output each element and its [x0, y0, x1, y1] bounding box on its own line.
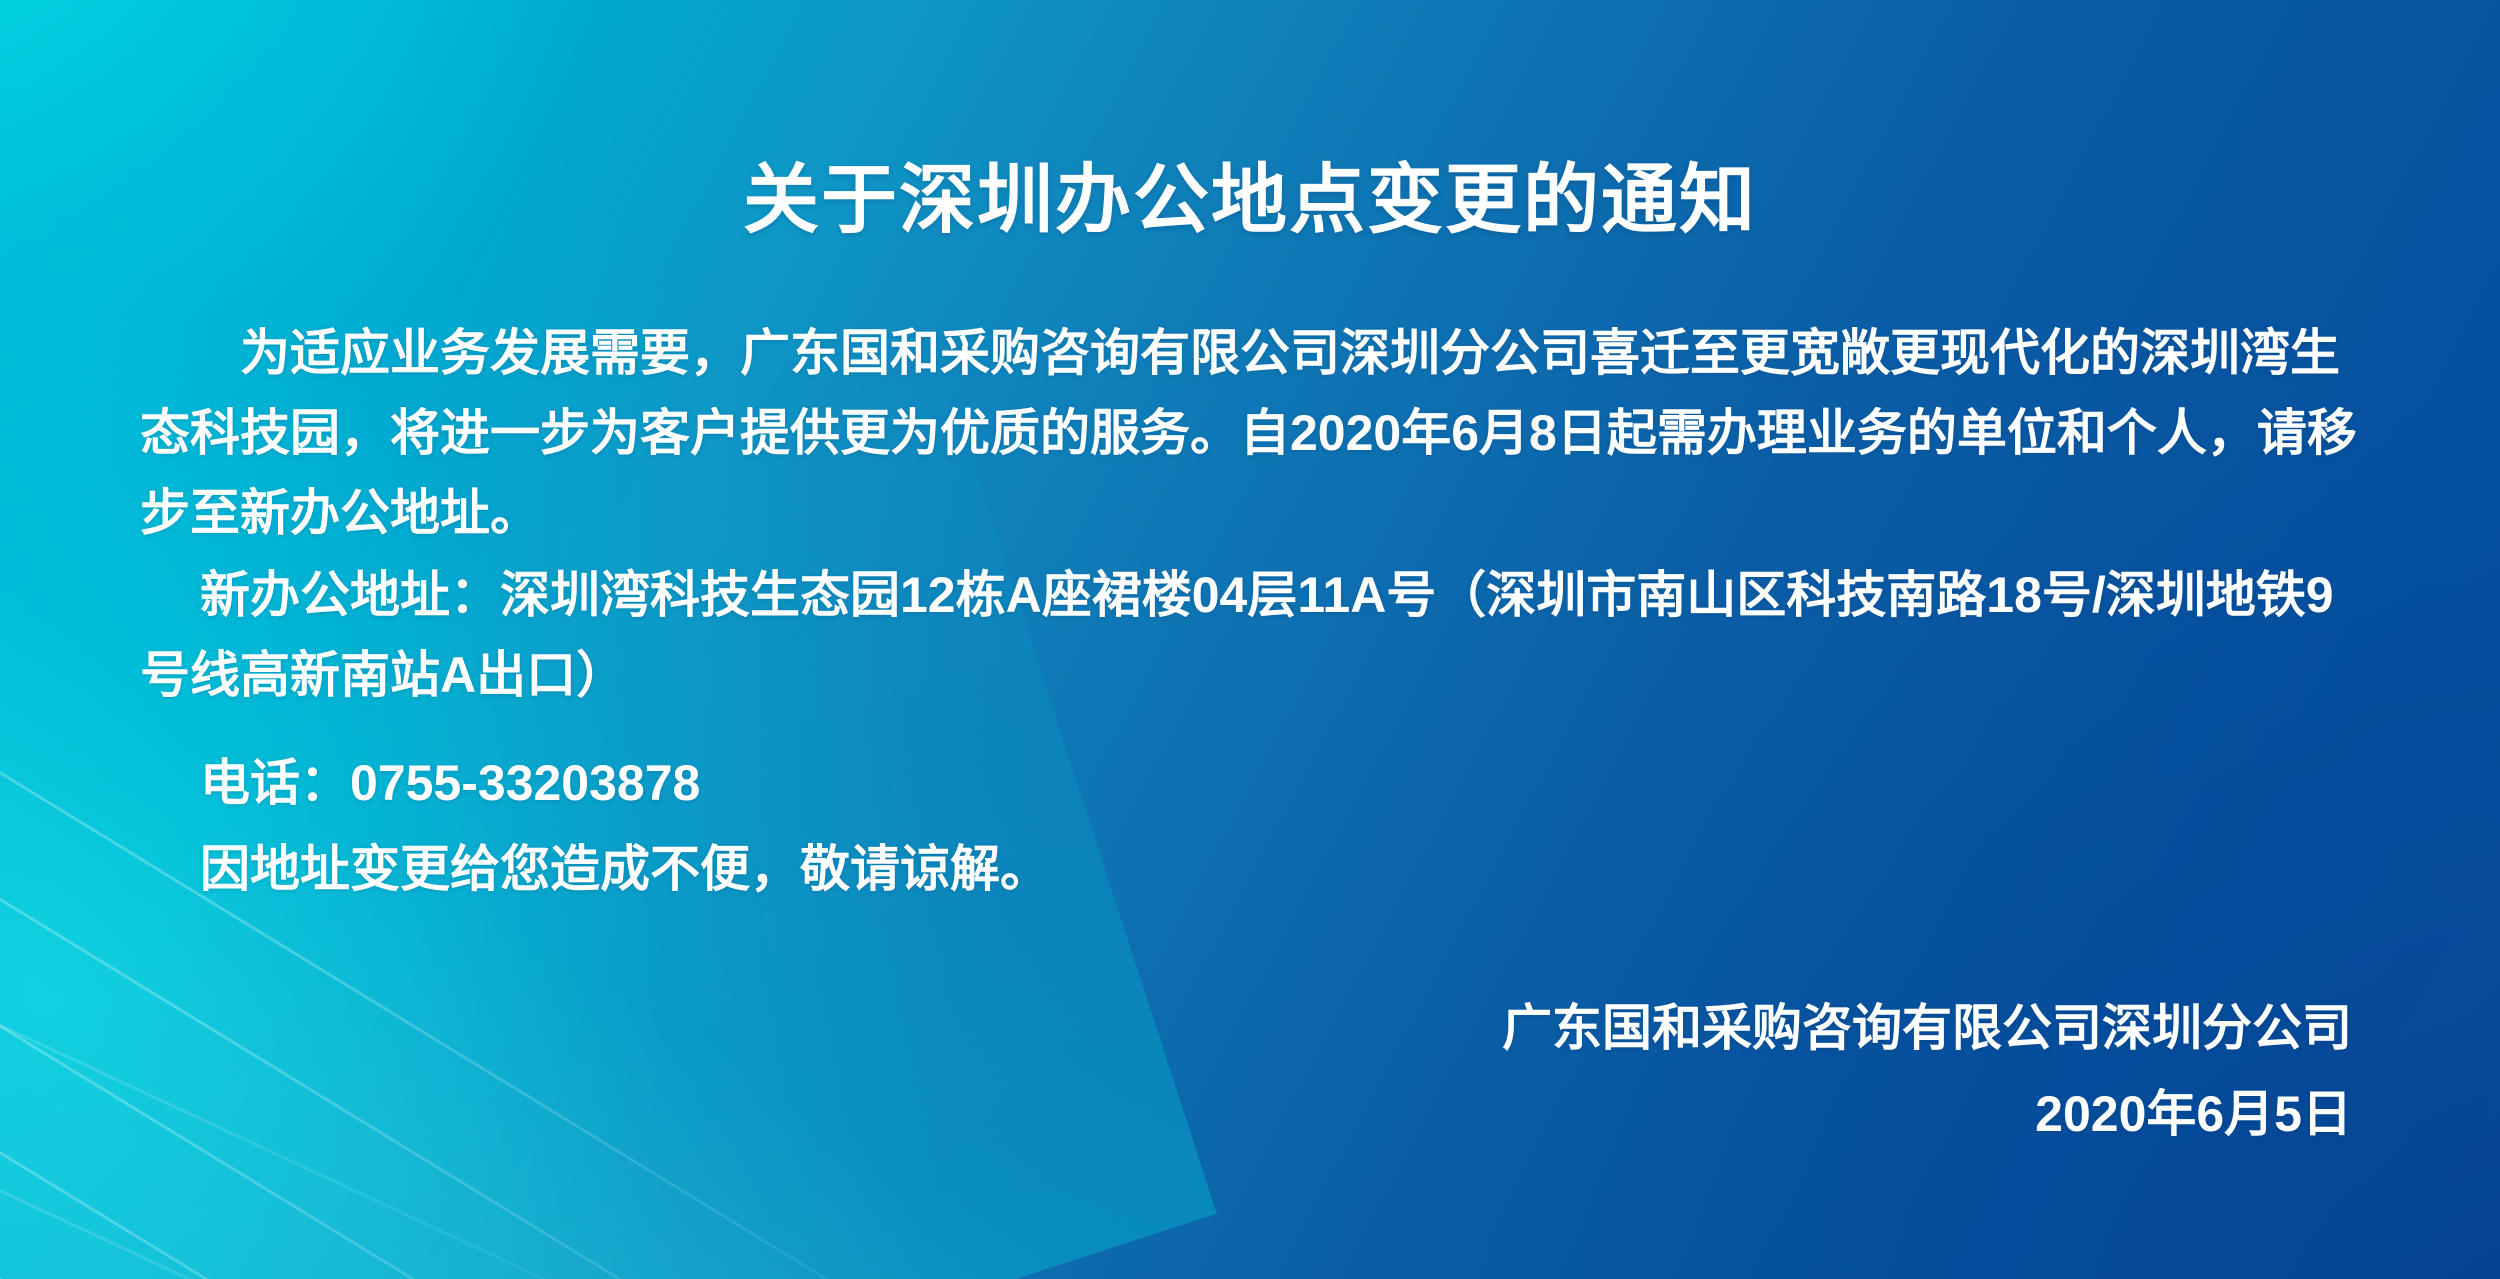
notice-body: 为适应业务发展需要，广东国和采购咨询有限公司深圳分公司喜迁至更宽敞更现代化的深圳… [140, 313, 2372, 909]
body-paragraph-phone: 电话：0755-33203878 [140, 743, 2372, 823]
signature-date: 2020年6月5日 [1502, 1071, 2352, 1157]
signature-organization: 广东国和采购咨询有限公司深圳分公司 [1502, 985, 2352, 1071]
body-paragraph-apology: 因地址变更给您造成不便，敬请谅解。 [140, 829, 2372, 909]
page-title: 关于深圳办公地点变更的通知 [0, 159, 2500, 243]
signature-block: 广东国和采购咨询有限公司深圳分公司 2020年6月5日 [1502, 985, 2352, 1157]
body-paragraph-address: 新办公地址：深圳湾科技生态园12栋A座裙楼04层11A号（深圳市南山区科技南路1… [140, 555, 2372, 715]
notice-poster: 关于深圳办公地点变更的通知 为适应业务发展需要，广东国和采购咨询有限公司深圳分公… [0, 0, 2500, 1279]
poster-content: 关于深圳办公地点变更的通知 为适应业务发展需要，广东国和采购咨询有限公司深圳分公… [0, 0, 2500, 1279]
body-paragraph-intro: 为适应业务发展需要，广东国和采购咨询有限公司深圳分公司喜迁至更宽敞更现代化的深圳… [140, 313, 2372, 553]
